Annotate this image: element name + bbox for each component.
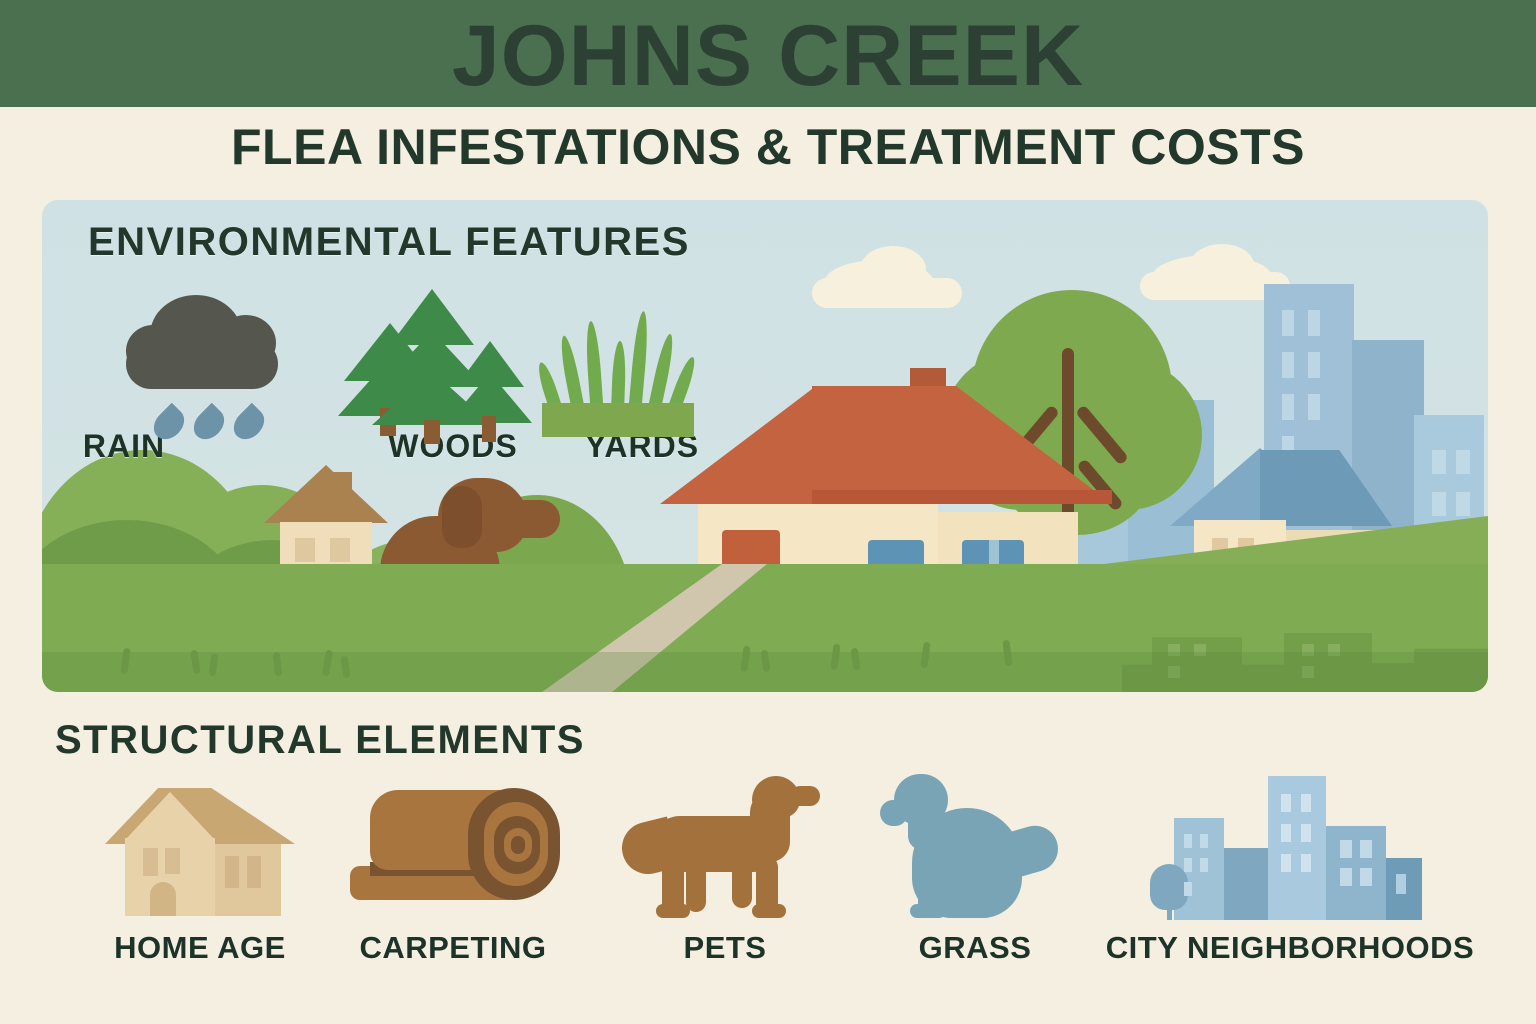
cloud-base	[126, 339, 278, 389]
skyline-window	[1281, 824, 1291, 842]
building-window	[1432, 492, 1446, 516]
pine-trunk	[482, 416, 496, 442]
structural-item-city-neighborhoods[interactable]: CITY NEIGHBORHOODS	[1100, 770, 1480, 990]
building-window	[1282, 352, 1294, 378]
house-window	[165, 848, 180, 874]
rain-cloud-icon	[120, 285, 320, 445]
building-window	[1308, 352, 1320, 378]
skyline-window	[1184, 882, 1192, 896]
structural-label-grass: GRASS	[870, 930, 1080, 966]
building-window	[1308, 394, 1320, 420]
dog-front-leg	[732, 856, 752, 908]
house-icon	[95, 770, 305, 920]
dog-ear	[880, 800, 908, 826]
dog-paw	[910, 904, 946, 918]
skyline-window	[1281, 854, 1291, 872]
building-window	[1456, 450, 1470, 474]
dog-paw	[656, 904, 690, 918]
city-skyline-icon	[1150, 770, 1450, 920]
skyline-window	[1200, 834, 1208, 848]
small-house-window	[295, 538, 315, 562]
structural-label-home-age: HOME AGE	[95, 930, 305, 966]
main-house-roof-eave	[812, 490, 1112, 504]
carpet-roll-icon	[348, 770, 558, 920]
page-title: JOHNS CREEK	[0, 14, 1536, 98]
cloud-shape	[812, 278, 962, 308]
building-window	[1432, 450, 1446, 474]
small-house-window	[330, 538, 350, 562]
skyline-building	[1326, 826, 1386, 920]
small-house-roof	[264, 465, 388, 523]
structural-item-grass[interactable]: GRASS	[870, 770, 1080, 990]
environmental-scene-panel: ENVIRONMENTAL FEATURES RAIN WOODS	[42, 200, 1488, 692]
skyline-window	[1301, 824, 1311, 842]
dog-neck	[908, 810, 948, 850]
structural-heading: STRUCTURAL ELEMENTS	[55, 718, 585, 763]
raindrop	[228, 403, 270, 445]
skyline-window	[1340, 868, 1352, 886]
page-subtitle: FLEA INFESTATIONS & TREATMENT COSTS	[0, 118, 1536, 176]
skyline-window	[1281, 794, 1291, 812]
skyline-window	[1184, 858, 1192, 872]
building-window	[1308, 310, 1320, 336]
skyline-window	[1301, 854, 1311, 872]
skyline-window	[1184, 834, 1192, 848]
skyline-window	[1301, 794, 1311, 812]
grass-base	[542, 403, 694, 437]
structural-label-city-neighborhoods: CITY NEIGHBORHOODS	[1100, 930, 1480, 966]
pine-trunk	[424, 420, 440, 444]
dog-paw	[956, 904, 992, 918]
skyline-window	[1200, 858, 1208, 872]
dog-sitting-snout	[504, 500, 560, 538]
structural-item-home-age[interactable]: HOME AGE	[95, 770, 305, 990]
structural-label-carpeting: CARPETING	[348, 930, 558, 966]
grass-tuft-icon	[532, 305, 722, 445]
dog-sitting-ear	[442, 486, 482, 548]
dog-standing-icon	[620, 770, 830, 920]
raindrop	[148, 403, 190, 445]
dog-sitting-icon	[870, 770, 1080, 920]
skyline-window	[1340, 840, 1352, 858]
pine-trees-icon	[328, 280, 538, 440]
structural-item-carpeting[interactable]: CARPETING	[348, 770, 558, 990]
building-window	[1456, 492, 1470, 516]
building-window	[1282, 394, 1294, 420]
carpet-spiral-core	[511, 836, 525, 854]
house-gable	[125, 792, 215, 840]
skyline-window	[1360, 840, 1372, 858]
skyline-building	[1224, 848, 1268, 920]
skyline-tree-trunk	[1167, 902, 1172, 920]
house-door	[150, 882, 176, 916]
house-window	[143, 848, 158, 876]
house-window	[247, 856, 261, 888]
dog-snout	[790, 786, 820, 806]
scene-heading: ENVIRONMENTAL FEATURES	[88, 220, 690, 265]
raindrop	[188, 403, 230, 445]
skyline-window	[1396, 874, 1406, 894]
skyline-window	[1360, 868, 1372, 886]
building-window	[1282, 310, 1294, 336]
dog-back-leg	[686, 860, 706, 912]
skyline-building	[1268, 776, 1326, 920]
structural-label-pets: PETS	[620, 930, 830, 966]
house-window	[225, 856, 239, 888]
structural-item-pets[interactable]: PETS	[620, 770, 830, 990]
dog-paw	[752, 904, 786, 918]
